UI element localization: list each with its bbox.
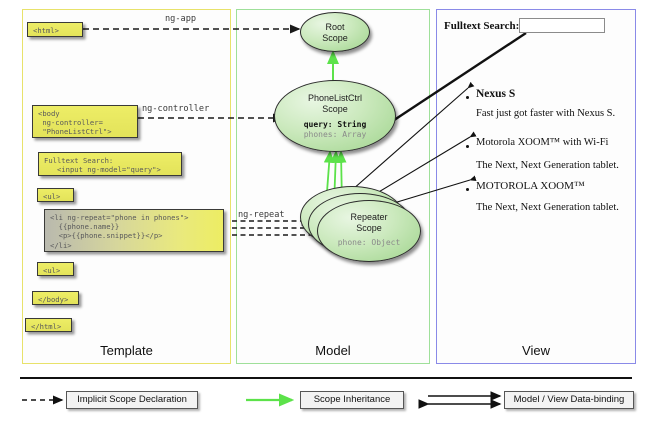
edge-label-ng-app: ng-app xyxy=(165,14,196,24)
angularjs-scope-diagram: ng-app ng-controller ng-repeat <html> <b… xyxy=(0,0,645,425)
legend-text: Model / View Data-binding xyxy=(505,392,633,405)
edge-label-ng-repeat: ng-repeat xyxy=(238,210,285,220)
legend-label-scope-inheritance: Scope Inheritance xyxy=(300,391,404,409)
edge-label-ng-controller: ng-controller xyxy=(142,104,209,114)
legend-label-model-view-data-binding: Model / View Data-binding xyxy=(504,391,634,409)
legend-text: Implicit Scope Declaration xyxy=(67,392,197,405)
legend-label-implicit-scope-declaration: Implicit Scope Declaration xyxy=(66,391,198,409)
legend-arrow-layer xyxy=(0,0,645,425)
legend-text: Scope Inheritance xyxy=(301,392,403,405)
